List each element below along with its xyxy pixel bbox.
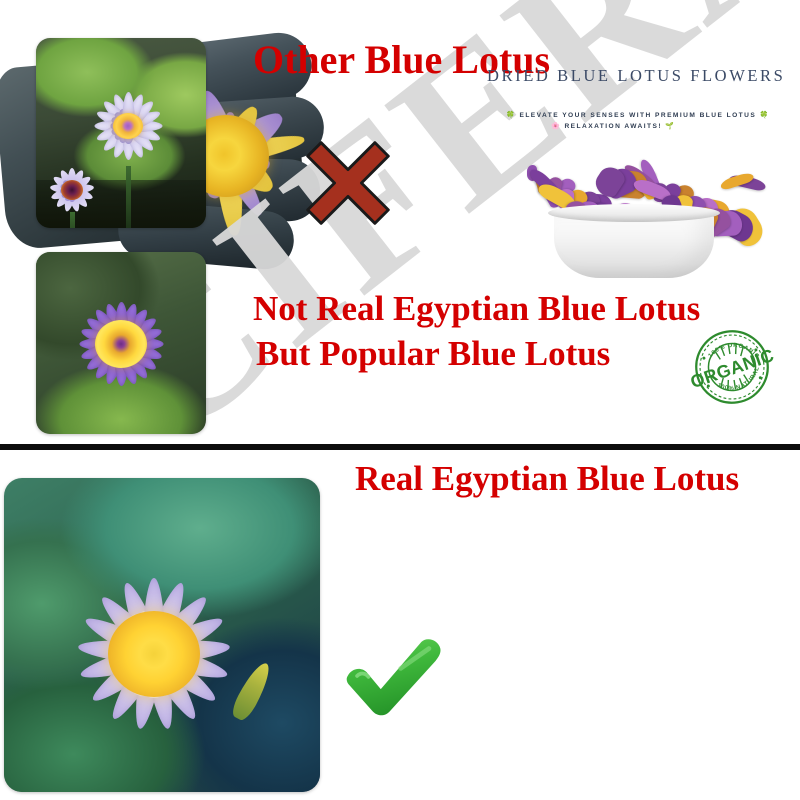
image-lavender-water-lilies-on-pads [36, 38, 206, 228]
image-vivid-purple-water-lily [36, 252, 206, 434]
leaf-icon: 🌱 [665, 123, 675, 130]
heading-real-egyptian-blue-lotus: Real Egyptian Blue Lotus [355, 459, 739, 499]
lily-stem [70, 212, 75, 228]
flower-icon: 🌸 [551, 123, 561, 130]
infographic-canvas: CIFERA Other Blue Lotus DRIED BLUE LOTUS… [0, 0, 800, 800]
tagline-line-2-text: RELAXATION AWAITS! [564, 123, 662, 130]
leaf-icon: 🍀 [760, 112, 770, 119]
brand-line-dried-blue-lotus-flowers: DRIED BLUE LOTUS FLOWERS [487, 66, 785, 86]
lily-center [113, 113, 143, 139]
lily-stem [126, 166, 131, 228]
image-egyptian-blue-lotus-in-pond [4, 478, 320, 792]
organic-badge-icon: 100% ORGANIC 100% NATURAL ORGANIC [684, 320, 780, 414]
image-dried-purple-flowers-in-white-bowl [492, 152, 778, 278]
tagline-line-1: 🍀 ELEVATE YOUR SENSES WITH PREMIUM BLUE … [506, 111, 770, 119]
lotus-center [108, 611, 200, 697]
tagline-line-1-text: ELEVATE YOUR SENSES WITH PREMIUM BLUE LO… [519, 112, 756, 119]
green-check-icon [342, 632, 446, 718]
lily-center [61, 180, 83, 200]
verdict-line-but-popular: But Popular Blue Lotus [256, 334, 610, 374]
panel-divider [0, 444, 800, 450]
tagline-line-2: 🌸 RELAXATION AWAITS! 🌱 [551, 122, 675, 130]
verdict-line-not-real: Not Real Egyptian Blue Lotus [253, 289, 700, 329]
lily-center [95, 320, 147, 368]
leaf-icon: 🍀 [506, 112, 516, 119]
white-bowl-rim [548, 204, 720, 222]
red-x-cross-icon [300, 135, 396, 231]
